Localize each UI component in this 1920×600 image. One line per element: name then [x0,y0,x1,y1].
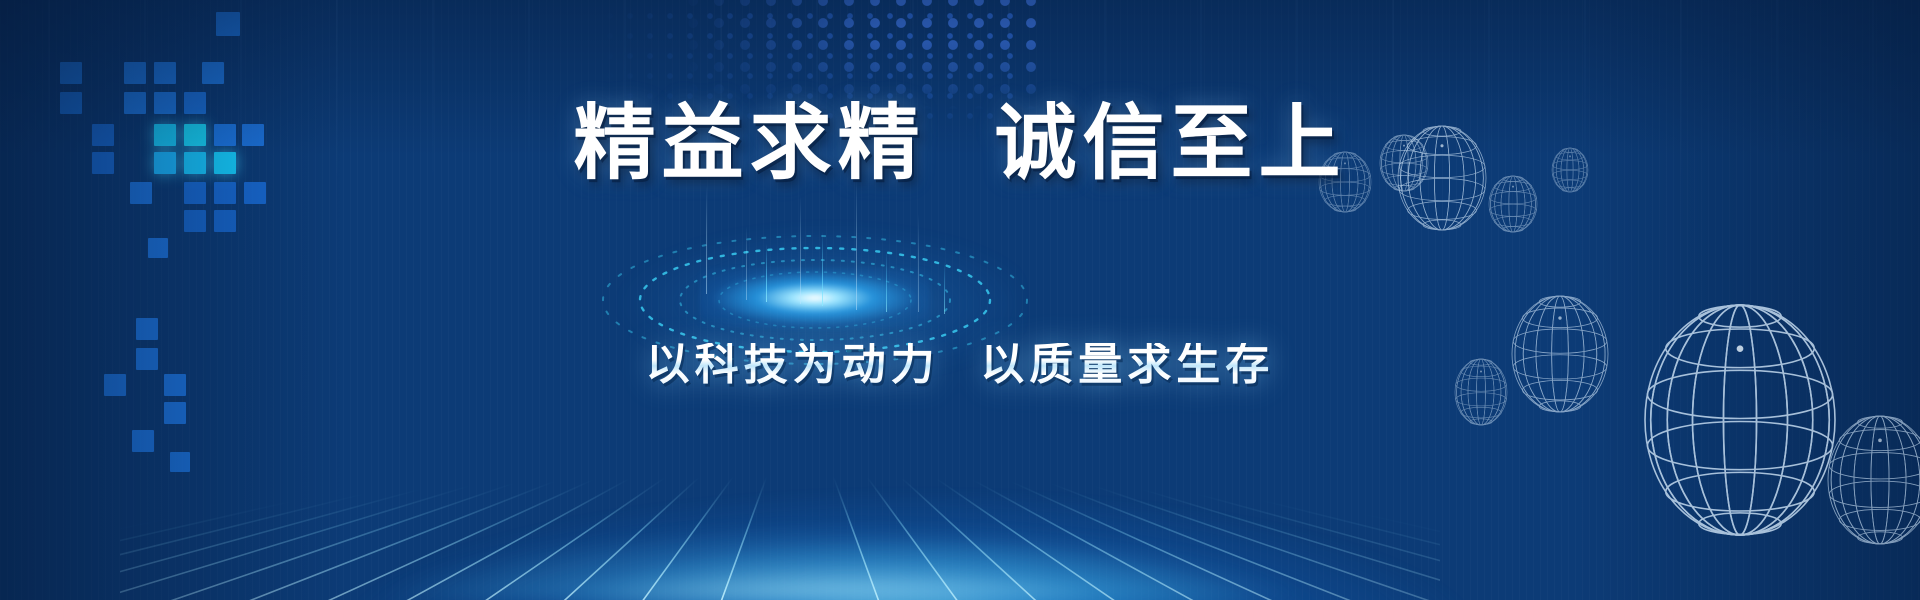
light-beam [822,232,823,306]
subline-container: 以科技为动力 以质量求生存 [0,343,1920,387]
globe-small-upper-right [1489,176,1537,232]
light-beam [944,262,945,314]
globe-large-right [1645,305,1835,535]
light-beam [800,196,801,304]
page-subtitle: 以科技为动力 以质量求生存 [646,343,1275,387]
globe-medium-far-right [1828,416,1920,544]
light-beam [746,226,747,300]
headline-container: 精益求精 诚信至上 [0,102,1920,184]
light-beam [886,250,887,312]
page-title: 精益求精 诚信至上 [573,102,1346,184]
wireframe-globe-cluster [1200,0,1920,600]
light-beam [706,186,707,294]
light-beam [766,244,767,302]
light-beam [856,178,857,310]
light-beam [918,214,919,312]
hero-banner: 精益求精 诚信至上 以科技为动力 以质量求生存 [0,0,1920,600]
